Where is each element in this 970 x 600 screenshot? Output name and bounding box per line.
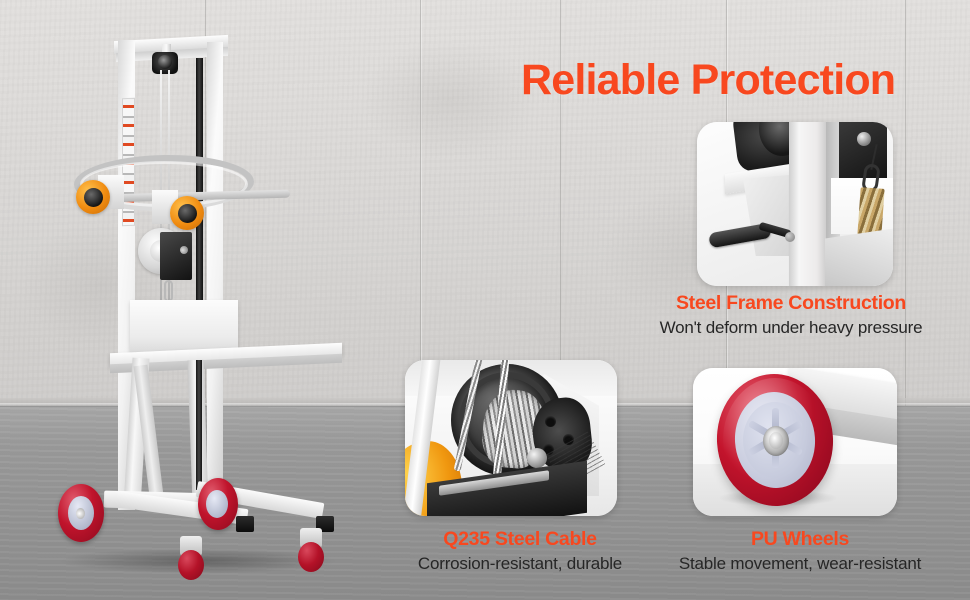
winch-bolt bbox=[180, 246, 188, 254]
orange-roller-hub bbox=[84, 188, 103, 207]
mast-right-rail bbox=[207, 42, 223, 497]
caster-wheel bbox=[178, 550, 204, 580]
caption-title: Steel Frame Construction bbox=[612, 292, 970, 314]
product-feature-banner: Reliable Protection Steel Frame Construc… bbox=[0, 0, 970, 600]
load-backrest bbox=[130, 300, 238, 352]
wheel-bearing-center bbox=[769, 432, 783, 449]
drum-hole bbox=[545, 416, 556, 427]
rear-pu-wheel-cap bbox=[76, 508, 85, 519]
steel-column bbox=[789, 122, 829, 286]
wall-seam bbox=[905, 0, 906, 406]
caption-steel-frame: Steel Frame Construction Won't deform un… bbox=[612, 292, 970, 339]
caption-subtitle: Stable movement, wear-resistant bbox=[650, 553, 950, 574]
strap-bundle bbox=[857, 187, 884, 237]
orange-roller-hub bbox=[178, 204, 197, 223]
panel-bolt bbox=[857, 132, 871, 146]
crank-handle-nut bbox=[785, 232, 795, 242]
caption-pu-wheels: PU Wheels Stable movement, wear-resistan… bbox=[650, 528, 950, 575]
caption-subtitle: Won't deform under heavy pressure bbox=[612, 317, 970, 338]
pulley-wheel bbox=[158, 55, 172, 69]
product-image-material-lift bbox=[0, 0, 400, 600]
mast-black-guide-lower bbox=[196, 360, 202, 490]
steel-cable-winch-photo bbox=[405, 360, 617, 516]
pu-wheel-photo bbox=[693, 368, 897, 516]
straddle-leg-cap bbox=[236, 516, 254, 532]
banner-headline: Reliable Protection bbox=[521, 56, 895, 105]
winch-housing bbox=[160, 232, 192, 280]
caption-steel-cable: Q235 Steel Cable Corrosion-resistant, du… bbox=[380, 528, 660, 575]
caster-wheel bbox=[298, 542, 324, 572]
steel-frame-photo bbox=[697, 122, 893, 286]
cable-carabiner bbox=[164, 280, 173, 302]
caption-title: Q235 Steel Cable bbox=[380, 528, 660, 550]
rear-pu-wheel-hub bbox=[206, 490, 228, 518]
caption-subtitle: Corrosion-resistant, durable bbox=[380, 553, 660, 574]
caption-title: PU Wheels bbox=[650, 528, 950, 550]
